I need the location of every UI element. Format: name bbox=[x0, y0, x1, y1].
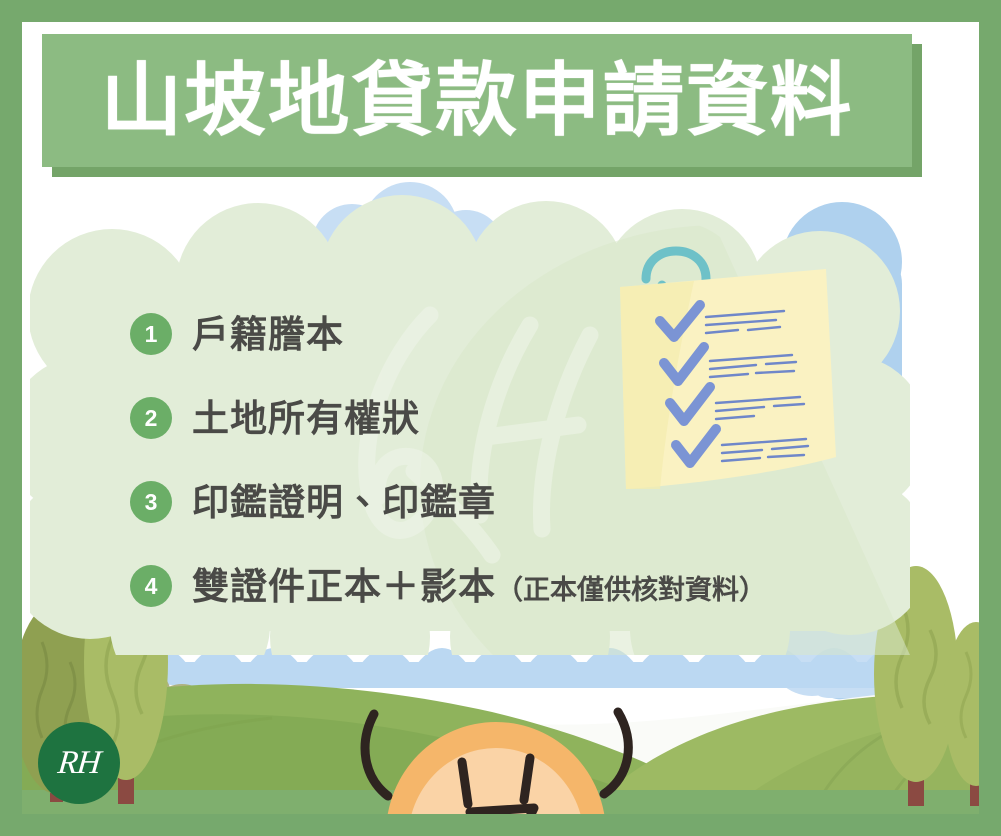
list-item-label: 印鑑證明、印鑑章 bbox=[192, 484, 496, 521]
list-item: 3 印鑑證明、印鑑章 bbox=[130, 460, 930, 544]
list-item-number: 1 bbox=[130, 313, 172, 355]
poster-canvas: 1 戶籍謄本 2 土地所有權狀 3 印鑑證明、印鑑章 4 雙證件正本＋影本（正本… bbox=[0, 0, 1001, 836]
list-item-text: 雙證件正本＋影本 bbox=[192, 566, 496, 607]
list-item-note: （正本僅供核對資料） bbox=[496, 575, 766, 605]
title-banner: 山坡地貸款申請資料 bbox=[42, 34, 922, 177]
mascot-eye-right bbox=[524, 758, 530, 800]
title-banner-body: 山坡地貸款申請資料 bbox=[42, 34, 912, 167]
list-item-number: 2 bbox=[130, 397, 172, 439]
requirements-list: 1 戶籍謄本 2 土地所有權狀 3 印鑑證明、印鑑章 4 雙證件正本＋影本（正本… bbox=[130, 292, 930, 628]
list-item-number: 4 bbox=[130, 565, 172, 607]
list-item-text: 土地所有權狀 bbox=[192, 398, 420, 439]
mascot-eye-left bbox=[462, 762, 468, 804]
logo-badge: RH bbox=[38, 722, 120, 804]
list-item-label: 土地所有權狀 bbox=[192, 400, 420, 437]
list-item-label: 雙證件正本＋影本（正本僅供核對資料） bbox=[192, 568, 766, 605]
page-title: 山坡地貸款申請資料 bbox=[101, 61, 854, 141]
list-item-text: 印鑑證明、印鑑章 bbox=[192, 482, 496, 523]
list-item-number: 3 bbox=[130, 481, 172, 523]
mascot-mouth bbox=[470, 808, 534, 814]
list-item-text: 戶籍謄本 bbox=[192, 314, 344, 355]
list-item: 2 土地所有權狀 bbox=[130, 376, 930, 460]
list-item: 4 雙證件正本＋影本（正本僅供核對資料） bbox=[130, 544, 930, 628]
logo-initials: RH bbox=[56, 747, 101, 780]
list-item: 1 戶籍謄本 bbox=[130, 292, 930, 376]
list-item-label: 戶籍謄本 bbox=[192, 316, 344, 353]
